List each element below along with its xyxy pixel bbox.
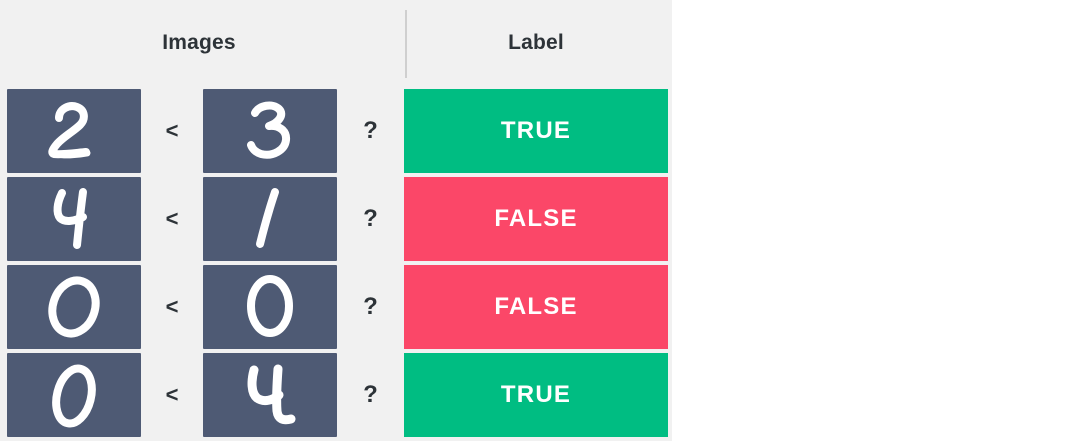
handwritten-digit-4-icon (203, 353, 337, 437)
table-row: < ? TRUE (0, 349, 672, 437)
handwritten-digit-3-icon (203, 89, 337, 173)
unknown-label-indicator: ? (337, 89, 404, 173)
digit-image-right (203, 177, 337, 261)
operator-less-than-icon: < (141, 89, 203, 173)
label-badge: TRUE (404, 353, 668, 437)
table-body: < ? TRUE (0, 85, 672, 437)
comparison-table-panel: Images Label < (0, 0, 672, 441)
digit-image-left (7, 353, 141, 437)
table-row: < ? FALSE (0, 261, 672, 349)
handwritten-digit-4-icon (7, 177, 141, 261)
handwritten-digit-0-icon (7, 265, 141, 349)
digit-image-right (203, 353, 337, 437)
handwritten-digit-0-icon (7, 353, 141, 437)
page-root: Images Label < (0, 0, 1080, 441)
column-header-label: Label (404, 0, 668, 85)
operator-less-than-icon: < (141, 353, 203, 437)
label-badge: TRUE (404, 89, 668, 173)
table-header: Images Label (0, 0, 672, 85)
handwritten-digit-2-icon (7, 89, 141, 173)
operator-less-than-icon: < (141, 177, 203, 261)
table-row: < ? FALSE (0, 173, 672, 261)
table-row: < ? TRUE (0, 85, 672, 173)
digit-image-right (203, 89, 337, 173)
unknown-label-indicator: ? (337, 353, 404, 437)
unknown-label-indicator: ? (337, 265, 404, 349)
column-header-images: Images (0, 0, 398, 85)
digit-image-right (203, 265, 337, 349)
digit-image-left (7, 177, 141, 261)
unknown-label-indicator: ? (337, 177, 404, 261)
digit-image-left (7, 265, 141, 349)
handwritten-digit-1-icon (203, 177, 337, 261)
label-badge: FALSE (404, 177, 668, 261)
digit-image-left (7, 89, 141, 173)
label-badge: FALSE (404, 265, 668, 349)
handwritten-digit-0-icon (203, 265, 337, 349)
operator-less-than-icon: < (141, 265, 203, 349)
